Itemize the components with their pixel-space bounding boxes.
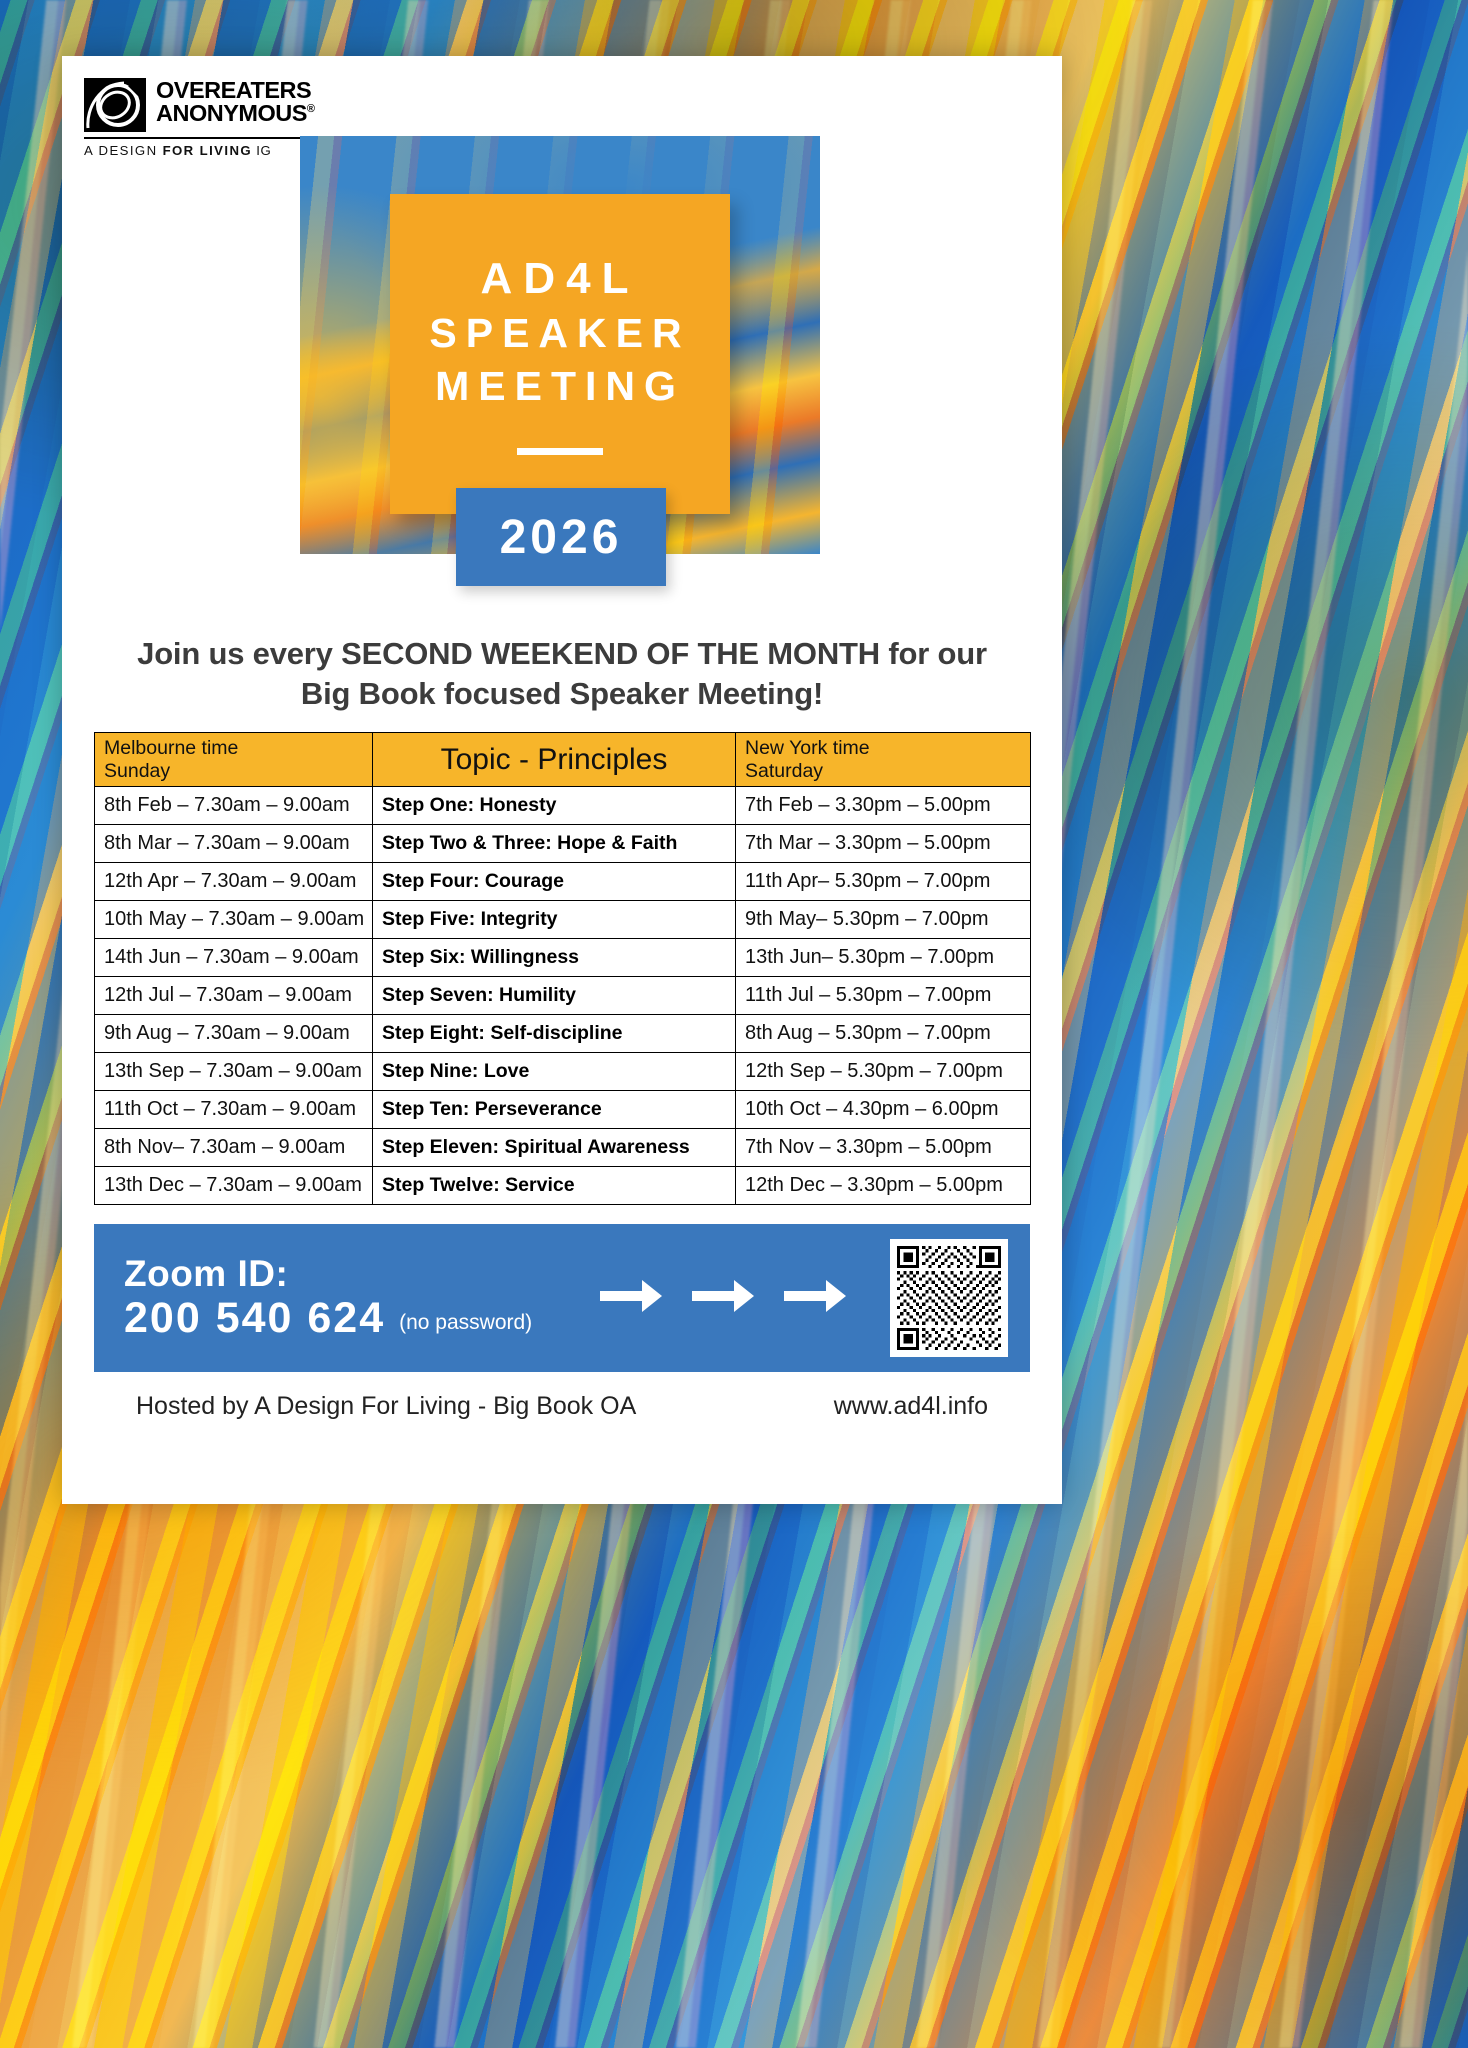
overeaters-anonymous-logo: OVEREATERS ANONYMOUS® A DESIGN FOR LIVIN… <box>84 78 334 158</box>
cell-topic: Step Five: Integrity <box>373 901 736 939</box>
cell-newyork-time: 11th Apr– 5.30pm – 7.00pm <box>736 863 1031 901</box>
cell-topic: Step Ten: Perseverance <box>373 1091 736 1129</box>
arrow-group <box>598 1274 848 1323</box>
hosted-by-text: Hosted by A Design For Living - Big Book… <box>136 1392 636 1421</box>
cell-melbourne-time: 8th Nov– 7.30am – 9.00am <box>95 1129 373 1167</box>
cell-newyork-time: 7th Mar – 3.30pm – 5.00pm <box>736 825 1031 863</box>
cell-melbourne-time: 12th Jul – 7.30am – 9.00am <box>95 977 373 1015</box>
cell-newyork-time: 8th Aug – 5.30pm – 7.00pm <box>736 1015 1031 1053</box>
oa-name-line1: OVEREATERS <box>156 79 314 102</box>
cell-newyork-time: 7th Nov – 3.30pm – 5.00pm <box>736 1129 1031 1167</box>
hero-year-badge: 2026 <box>456 488 666 586</box>
hero-title-card: AD4L SPEAKER MEETING <box>390 194 730 514</box>
oa-tagline: A DESIGN FOR LIVING IG <box>84 143 334 158</box>
zoom-id-label: Zoom ID: <box>124 1255 532 1294</box>
table-row: 10th May – 7.30am – 9.00amStep Five: Int… <box>95 901 1031 939</box>
table-row: 14th Jun – 7.30am – 9.00amStep Six: Will… <box>95 939 1031 977</box>
table-row: 12th Apr – 7.30am – 9.00amStep Four: Cou… <box>95 863 1031 901</box>
hero-line-1: AD4L <box>481 254 640 304</box>
cell-topic: Step Eight: Self-discipline <box>373 1015 736 1053</box>
zoom-details-band: Zoom ID: 200 540 624 (no password) <box>94 1224 1030 1372</box>
newyork-header-line1: New York time <box>745 737 1021 760</box>
column-header-newyork: New York time Saturday <box>736 733 1031 787</box>
hero-block: AD4L SPEAKER MEETING 2026 <box>300 136 820 626</box>
table-row: 9th Aug – 7.30am – 9.00amStep Eight: Sel… <box>95 1015 1031 1053</box>
cell-newyork-time: 13th Jun– 5.30pm – 7.00pm <box>736 939 1031 977</box>
melbourne-header-line2: Sunday <box>104 760 363 783</box>
table-row: 13th Sep – 7.30am – 9.00amStep Nine: Lov… <box>95 1053 1031 1091</box>
qr-code-icon[interactable] <box>890 1239 1008 1357</box>
table-row: 12th Jul – 7.30am – 9.00amStep Seven: Hu… <box>95 977 1031 1015</box>
hero-year-label: 2026 <box>500 510 623 565</box>
subtitle-line-2: Big Book focused Speaker Meeting! <box>82 674 1042 714</box>
table-header-row: Melbourne time Sunday Topic - Principles… <box>95 733 1031 787</box>
cell-melbourne-time: 13th Sep – 7.30am – 9.00am <box>95 1053 373 1091</box>
zoom-no-password-note: (no password) <box>399 1311 532 1341</box>
subtitle: Join us every SECOND WEEKEND OF THE MONT… <box>82 634 1042 713</box>
schedule-table-wrapper: Melbourne time Sunday Topic - Principles… <box>94 732 1030 1205</box>
cell-newyork-time: 9th May– 5.30pm – 7.00pm <box>736 901 1031 939</box>
hero-line-2: SPEAKER <box>429 310 690 357</box>
oa-name-line2: ANONYMOUS® <box>156 102 314 125</box>
cell-topic: Step Four: Courage <box>373 863 736 901</box>
registered-mark: ® <box>307 103 315 115</box>
logo-divider <box>84 137 334 139</box>
arrow-right-icon <box>598 1274 664 1323</box>
arrow-right-icon <box>782 1274 848 1323</box>
cell-newyork-time: 12th Sep – 5.30pm – 7.00pm <box>736 1053 1031 1091</box>
cell-melbourne-time: 8th Mar – 7.30am – 9.00am <box>95 825 373 863</box>
cell-melbourne-time: 11th Oct – 7.30am – 9.00am <box>95 1091 373 1129</box>
footer: Hosted by A Design For Living - Big Book… <box>94 1392 1030 1421</box>
table-row: 8th Mar – 7.30am – 9.00amStep Two & Thre… <box>95 825 1031 863</box>
arrow-right-icon <box>690 1274 756 1323</box>
zoom-id-number: 200 540 624 <box>124 1296 385 1341</box>
column-header-melbourne: Melbourne time Sunday <box>95 733 373 787</box>
cell-topic: Step Seven: Humility <box>373 977 736 1015</box>
subtitle-line-1: Join us every SECOND WEEKEND OF THE MONT… <box>82 634 1042 674</box>
cell-melbourne-time: 10th May – 7.30am – 9.00am <box>95 901 373 939</box>
hero-divider <box>517 448 603 455</box>
cell-newyork-time: 12th Dec – 3.30pm – 5.00pm <box>736 1167 1031 1205</box>
table-row: 8th Nov– 7.30am – 9.00amStep Eleven: Spi… <box>95 1129 1031 1167</box>
zoom-text-group: Zoom ID: 200 540 624 (no password) <box>124 1255 532 1341</box>
table-row: 8th Feb – 7.30am – 9.00amStep One: Hones… <box>95 787 1031 825</box>
table-row: 11th Oct – 7.30am – 9.00amStep Ten: Pers… <box>95 1091 1031 1129</box>
column-header-topic: Topic - Principles <box>373 733 736 787</box>
cell-topic: Step Nine: Love <box>373 1053 736 1091</box>
cell-newyork-time: 11th Jul – 5.30pm – 7.00pm <box>736 977 1031 1015</box>
table-row: 13th Dec – 7.30am – 9.00amStep Twelve: S… <box>95 1167 1031 1205</box>
cell-newyork-time: 10th Oct – 4.30pm – 6.00pm <box>736 1091 1031 1129</box>
cell-topic: Step Eleven: Spiritual Awareness <box>373 1129 736 1167</box>
flyer-sheet: OVEREATERS ANONYMOUS® A DESIGN FOR LIVIN… <box>62 56 1062 1504</box>
melbourne-header-line1: Melbourne time <box>104 737 363 760</box>
cell-topic: Step One: Honesty <box>373 787 736 825</box>
schedule-table: Melbourne time Sunday Topic - Principles… <box>94 732 1031 1205</box>
cell-newyork-time: 7th Feb – 3.30pm – 5.00pm <box>736 787 1031 825</box>
cell-topic: Step Two & Three: Hope & Faith <box>373 825 736 863</box>
website-link[interactable]: www.ad4l.info <box>834 1392 988 1421</box>
cell-topic: Step Six: Willingness <box>373 939 736 977</box>
oa-logo-icon <box>84 78 146 132</box>
cell-melbourne-time: 13th Dec – 7.30am – 9.00am <box>95 1167 373 1205</box>
newyork-header-line2: Saturday <box>745 760 1021 783</box>
cell-melbourne-time: 14th Jun – 7.30am – 9.00am <box>95 939 373 977</box>
cell-melbourne-time: 9th Aug – 7.30am – 9.00am <box>95 1015 373 1053</box>
cell-topic: Step Twelve: Service <box>373 1167 736 1205</box>
cell-melbourne-time: 8th Feb – 7.30am – 9.00am <box>95 787 373 825</box>
hero-line-3: MEETING <box>435 363 685 410</box>
cell-melbourne-time: 12th Apr – 7.30am – 9.00am <box>95 863 373 901</box>
